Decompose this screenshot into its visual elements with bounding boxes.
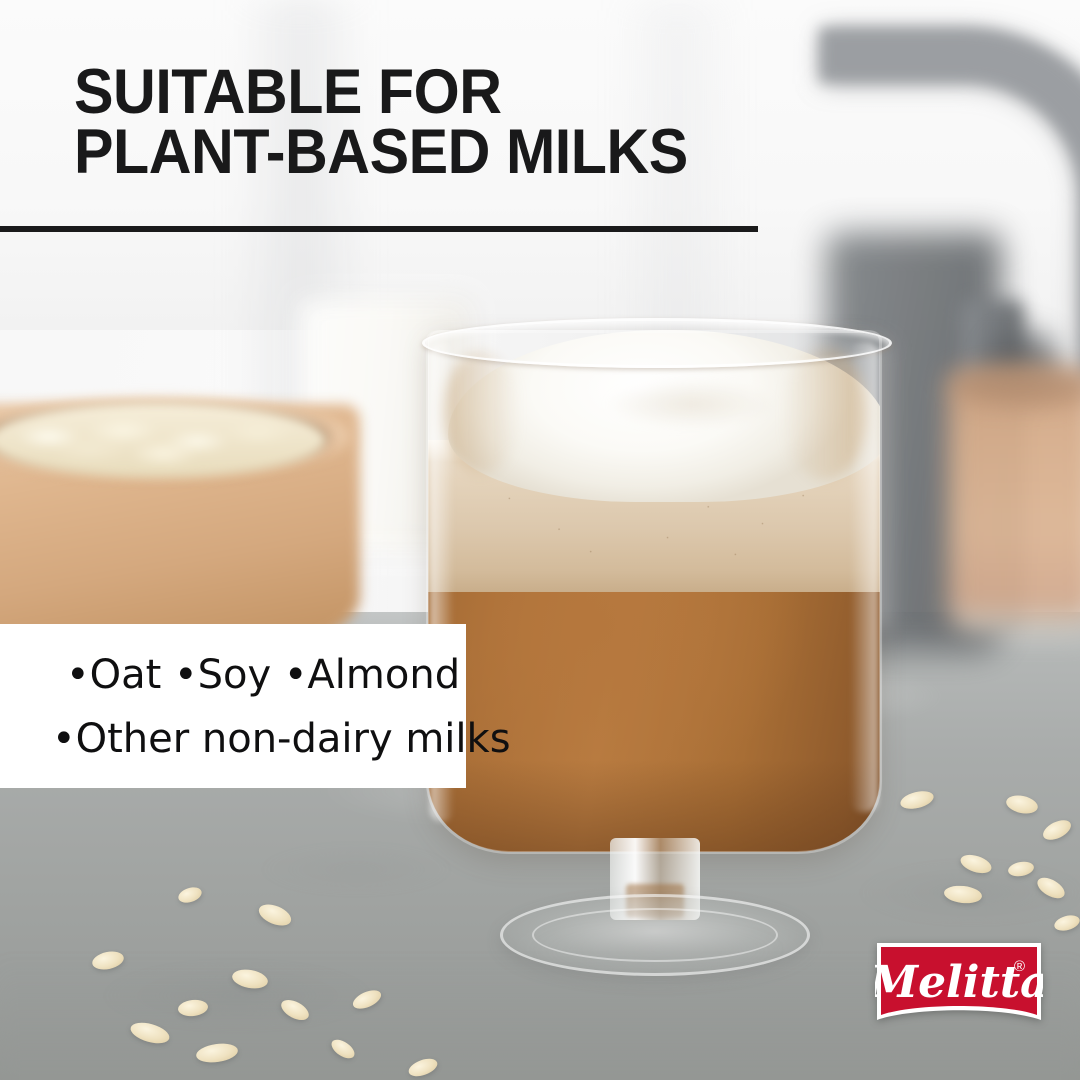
list-item: •Other non-dairy milks [52,716,511,762]
oats-in-bowl [0,402,326,478]
list-item: •Oat •Soy •Almond [66,652,460,698]
title-divider [0,226,758,232]
glass-highlight-right [850,342,878,812]
glass-rim [422,318,892,368]
plant-milk-list: •Oat •Soy •Almond •Other non-dairy milks [0,624,466,788]
second-glass [948,372,1080,634]
page-title: SUITABLE FOR PLANT-BASED MILKS [74,62,788,183]
advertisement-creative: SUITABLE FOR PLANT-BASED MILKS •Oat •Soy… [0,0,1080,1080]
foam-swirl [576,370,806,438]
bullet-row-other-milks: •Other non-dairy milks [52,716,511,762]
glass-bowl [428,330,880,852]
melitta-logo-mark: Melitta ® [875,941,1043,1034]
plant-milk-list-panel: •Oat •Soy •Almond •Other non-dairy milks [0,624,466,788]
bullet-row-oat-soy-almond: •Oat •Soy •Almond [66,652,460,698]
melitta-logo[interactable]: Melitta ® [875,941,1043,1034]
registered-trademark-icon: ® [1014,958,1025,975]
glass-foot-inner-ring [532,908,778,962]
hero-coffee-glass [414,286,894,926]
